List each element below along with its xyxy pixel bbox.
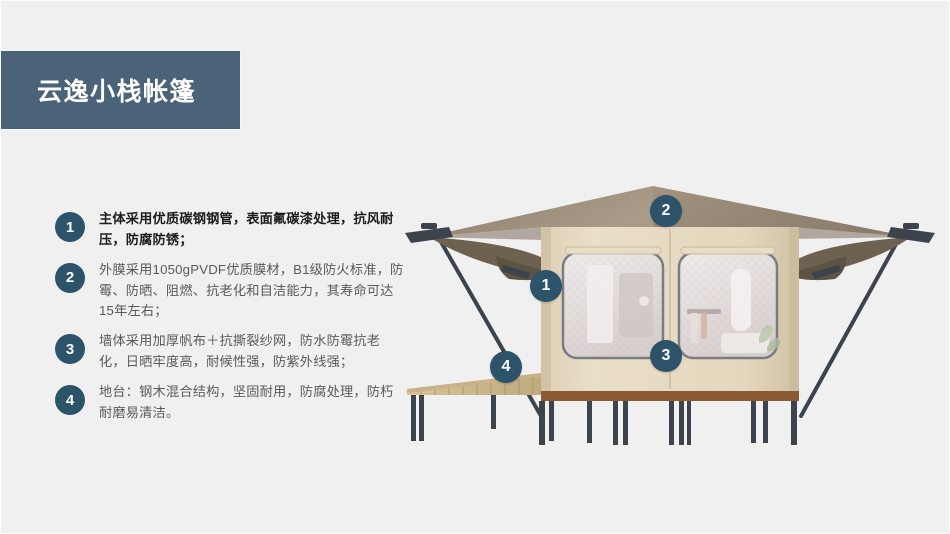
list-item: 1 主体采用优质碳钢钢管，表面氟碳漆处理，抗风耐压，防腐防锈； — [55, 209, 405, 251]
corner-post-right — [789, 227, 799, 391]
feature-number-badge: 1 — [55, 212, 85, 242]
window-right — [679, 253, 781, 358]
slide-canvas: 云逸小栈帐篷 1 主体采用优质碳钢钢管，表面氟碳漆处理，抗风耐压，防腐防锈； 2… — [0, 0, 950, 534]
feature-number-badge: 3 — [55, 334, 85, 364]
title-banner: 云逸小栈帐篷 — [0, 51, 240, 129]
deck-fascia — [541, 391, 799, 401]
page-title: 云逸小栈帐篷 — [0, 72, 196, 108]
deck-support-legs — [411, 395, 797, 445]
list-item: 4 地台：钢木混合结构，坚固耐用，防腐处理，防朽耐磨易清洁。 — [55, 382, 405, 424]
window-roller-left — [565, 247, 661, 254]
callout-badge-2: 2 — [650, 195, 682, 227]
feature-number-badge: 4 — [55, 385, 85, 415]
feature-number-badge: 2 — [55, 263, 85, 293]
corner-post-left — [541, 227, 551, 391]
feature-list: 1 主体采用优质碳钢钢管，表面氟碳漆处理，抗风耐压，防腐防锈； 2 外膜采用10… — [55, 209, 405, 433]
feature-description: 主体采用优质碳钢钢管，表面氟碳漆处理，抗风耐压，防腐防锈； — [99, 209, 405, 251]
callout-badge-3: 3 — [650, 340, 682, 372]
callout-badge-4: 4 — [490, 351, 522, 383]
list-item: 3 墙体采用加厚帆布＋抗撕裂纱网，防水防霉抗老化，日晒牢度高，耐候性强，防紫外线… — [55, 331, 405, 373]
feature-description: 地台：钢木混合结构，坚固耐用，防腐处理，防朽耐磨易清洁。 — [99, 382, 405, 424]
feature-description: 墙体采用加厚帆布＋抗撕裂纱网，防水防霉抗老化，日晒牢度高，耐候性强，防紫外线强； — [99, 331, 405, 373]
list-item: 2 外膜采用1050gPVDF优质膜材，B1级防火标准，防霉、防晒、阻燃、抗老化… — [55, 260, 405, 323]
callout-badge-1: 1 — [530, 270, 562, 302]
window-left — [563, 253, 663, 358]
window-roller-right — [681, 247, 775, 254]
feature-description: 外膜采用1050gPVDF优质膜材，B1级防火标准，防霉、防晒、阻燃、抗老化和自… — [99, 260, 405, 323]
